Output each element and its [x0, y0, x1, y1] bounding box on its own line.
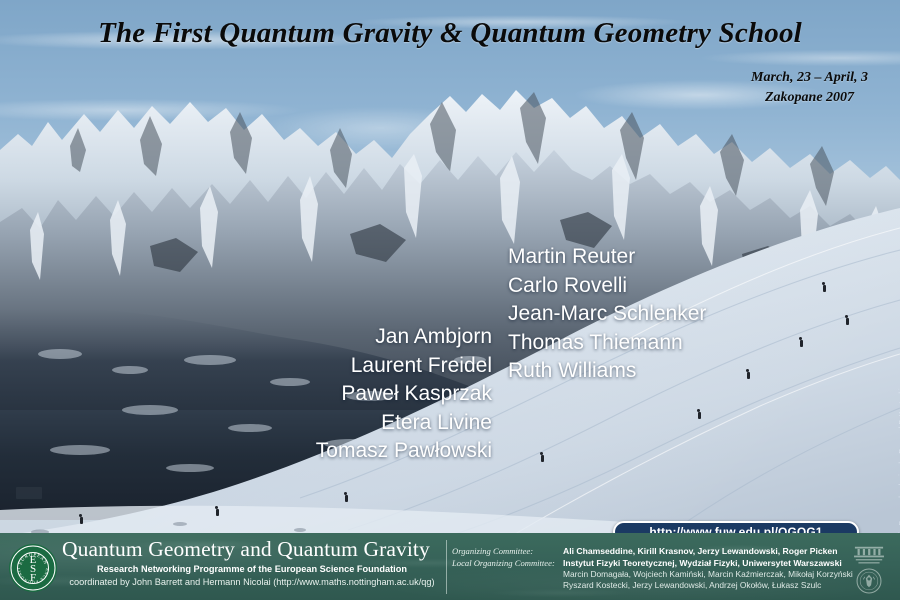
committee-labels: Organizing Committee: Local Organizing C… — [452, 546, 562, 569]
skier-figure — [345, 495, 348, 502]
organizing-members: Ali Chamseddine, Kirill Krasnov, Jerzy L… — [563, 546, 853, 558]
committee-members: Ali Chamseddine, Kirill Krasnov, Jerzy L… — [563, 546, 853, 591]
skier-figure — [541, 455, 544, 462]
skier-figure — [747, 372, 750, 379]
local-organizing-committee-label: Local Organizing Committee: — [452, 558, 562, 570]
faculty-of-physics-logo-icon — [846, 545, 892, 567]
university-of-warsaw-seal-icon — [856, 568, 882, 594]
local-members-line-2: Ryszard Kostecki, Jerzy Lewandowski, And… — [563, 580, 853, 591]
conference-poster: The First Quantum Gravity & Quantum Geom… — [0, 0, 900, 600]
location-year: Zakopane 2007 — [751, 88, 868, 108]
skier-figure — [800, 340, 803, 347]
svg-text:F: F — [30, 572, 36, 584]
skier-figure — [80, 517, 83, 524]
skier-figure — [698, 412, 701, 419]
organizing-committee-label: Organizing Committee: — [452, 546, 562, 558]
skier-figure — [846, 318, 849, 325]
esf-logo-icon: EUROPEAN SCIENCE FOUNDATION E S F — [8, 543, 58, 593]
hut-silhouette — [16, 487, 42, 499]
programme-subtitle: Research Networking Programme of the Eur… — [62, 563, 442, 576]
programme-coordinators: coordinated by John Barrett and Hermann … — [62, 576, 442, 589]
programme-title: Quantum Geometry and Quantum Gravity — [62, 537, 442, 562]
local-members-line-1: Marcin Domagała, Wojciech Kamiński, Marc… — [563, 569, 853, 580]
sunlit-snow-slope — [0, 180, 900, 555]
skier-figure — [823, 285, 826, 292]
date-range: March, 23 – April, 3 — [751, 68, 868, 88]
poster-title: The First Quantum Gravity & Quantum Geom… — [0, 17, 900, 50]
skier-figure — [216, 509, 219, 516]
date-location-block: March, 23 – April, 3 Zakopane 2007 — [751, 68, 868, 108]
local-institution: Instytut Fizyki Teoretycznej, Wydział Fi… — [563, 558, 853, 570]
esf-programme-block: Quantum Geometry and Quantum Gravity Res… — [62, 537, 442, 589]
footer-divider — [446, 540, 447, 594]
